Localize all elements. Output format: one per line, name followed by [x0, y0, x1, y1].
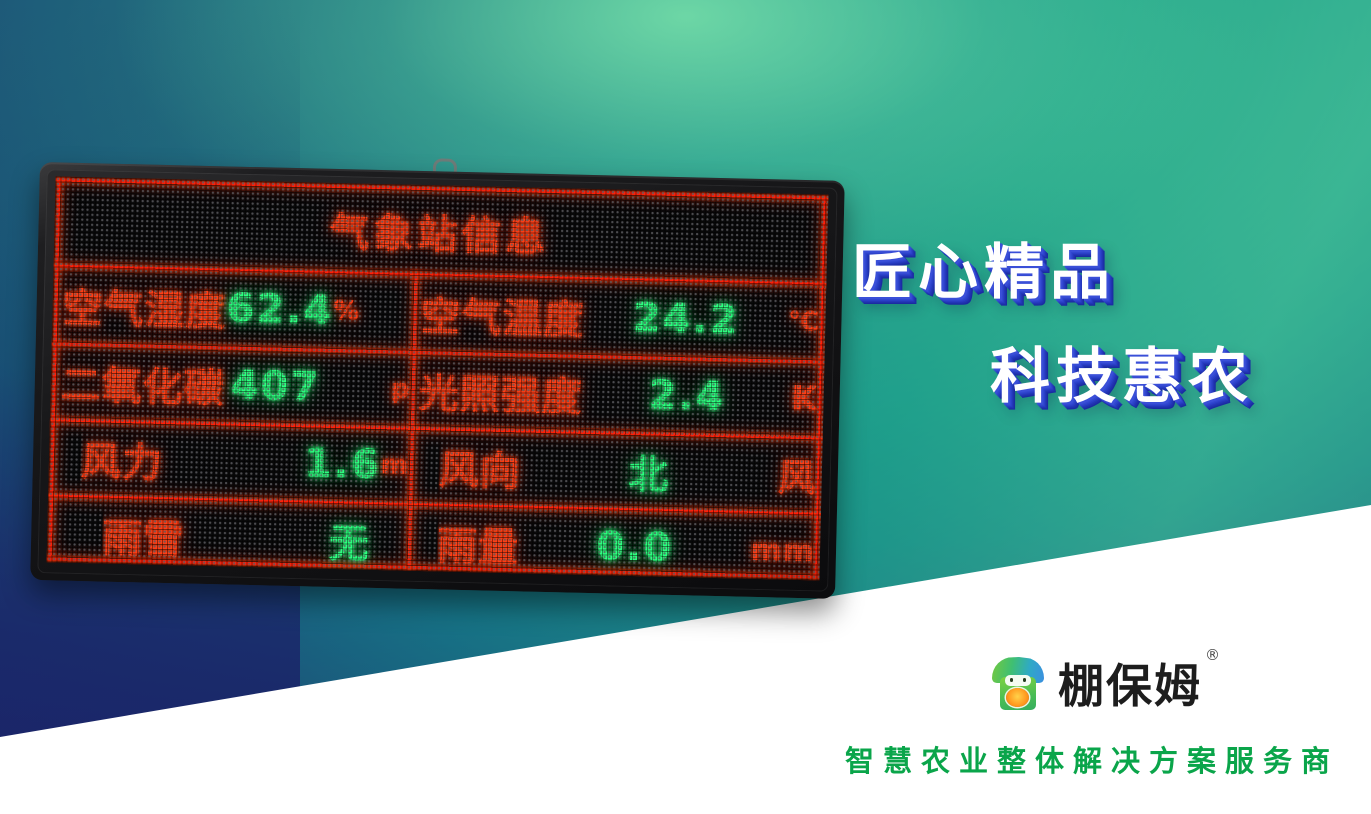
- led-label-wind-force: 风力: [80, 429, 163, 489]
- logo-eye-right: [1023, 678, 1026, 682]
- led-spacer: [163, 459, 304, 462]
- led-spacer: [673, 548, 750, 550]
- led-unit-air-temperature: ℃: [788, 307, 821, 338]
- led-value-air-temperature: 24.2: [632, 295, 740, 344]
- logo-badge-shape: [1006, 688, 1029, 707]
- led-spacer: [320, 387, 391, 389]
- led-title-cell: 气象站信息: [59, 181, 821, 281]
- led-cell-rainfall: 雨量 0.0 mm: [436, 506, 816, 580]
- brand-name-text: 棚保姆: [1058, 659, 1202, 713]
- led-value-wind-direction: 北: [628, 441, 671, 500]
- led-value-humidity: 62.4: [226, 285, 334, 334]
- led-value-light-intensity: 2.4: [648, 372, 726, 420]
- led-screen: 气象站信息 空气湿度 62.4 % 空气温度 24.2 ℃ 二氧化碳: [47, 176, 829, 580]
- led-label-rain-snow: 雨雪: [102, 506, 185, 566]
- led-unit-co2: p: [391, 374, 411, 404]
- led-cell-co2: 二氧化碳 407 p: [60, 346, 412, 425]
- led-value-rain-snow: 无: [328, 511, 371, 570]
- led-label-humidity: 空气湿度: [62, 276, 227, 338]
- led-unit-rainfall: mm: [750, 532, 815, 569]
- registered-mark: ®: [1205, 646, 1222, 664]
- led-title-text: 气象站信息: [329, 200, 550, 263]
- led-unit-wind-force: m: [381, 450, 410, 481]
- led-label-rainfall: 雨量: [436, 513, 519, 573]
- poster-canvas: 气象站信息 空气湿度 62.4 % 空气温度 24.2 ℃ 二氧化碳: [0, 0, 1371, 814]
- led-spacer: [521, 468, 628, 471]
- led-spacer: [670, 471, 777, 474]
- brand-name: 棚保姆 ®: [1058, 650, 1202, 716]
- led-label-air-temperature: 空气温度: [420, 284, 585, 346]
- brand-lockup: 棚保姆 ®: [992, 650, 1202, 716]
- led-cell-wind-direction: 风向 北 风: [438, 430, 818, 510]
- led-label-wind-direction: 风向: [438, 437, 521, 497]
- led-unit-humidity: %: [333, 296, 361, 327]
- led-unit-light-intensity: K: [791, 378, 819, 419]
- led-cell-wind-force: 风力 1.6 m: [80, 422, 410, 501]
- led-label-co2: 二氧化碳: [60, 352, 225, 414]
- led-spacer: [519, 544, 596, 546]
- brand-tagline: 智慧农业整体解决方案服务商: [845, 738, 1339, 780]
- led-cell-air-temperature: 空气温度 24.2 ℃: [420, 277, 822, 358]
- led-value-wind-force: 1.6: [303, 440, 381, 488]
- led-cells: 气象站信息 空气湿度 62.4 % 空气温度 24.2 ℃ 二氧化碳: [47, 176, 829, 580]
- led-label-light-intensity: 光照强度: [418, 360, 583, 422]
- greenhouse-mascot-icon: [992, 655, 1044, 711]
- led-weather-sign: 气象站信息 空气湿度 62.4 % 空气温度 24.2 ℃ 二氧化碳: [30, 162, 845, 599]
- led-cell-humidity: 空气湿度 62.4 %: [62, 269, 414, 349]
- led-spacer: [585, 317, 633, 318]
- led-value-co2: 407: [230, 362, 321, 410]
- slogan-line-1: 匠心精品: [852, 224, 1116, 311]
- led-cell-light-intensity: 光照强度 2.4 K: [418, 354, 820, 434]
- slogan-line-2: 科技惠农: [990, 328, 1254, 415]
- led-spacer: [740, 321, 788, 322]
- led-value-rainfall: 0.0: [596, 523, 674, 571]
- led-unit-wind-direction: 风: [777, 446, 817, 502]
- led-spacer: [583, 393, 649, 395]
- logo-face-shape: [1005, 675, 1031, 686]
- led-spacer: [184, 537, 329, 540]
- logo-eye-left: [1010, 678, 1013, 682]
- led-spacer: [725, 397, 791, 399]
